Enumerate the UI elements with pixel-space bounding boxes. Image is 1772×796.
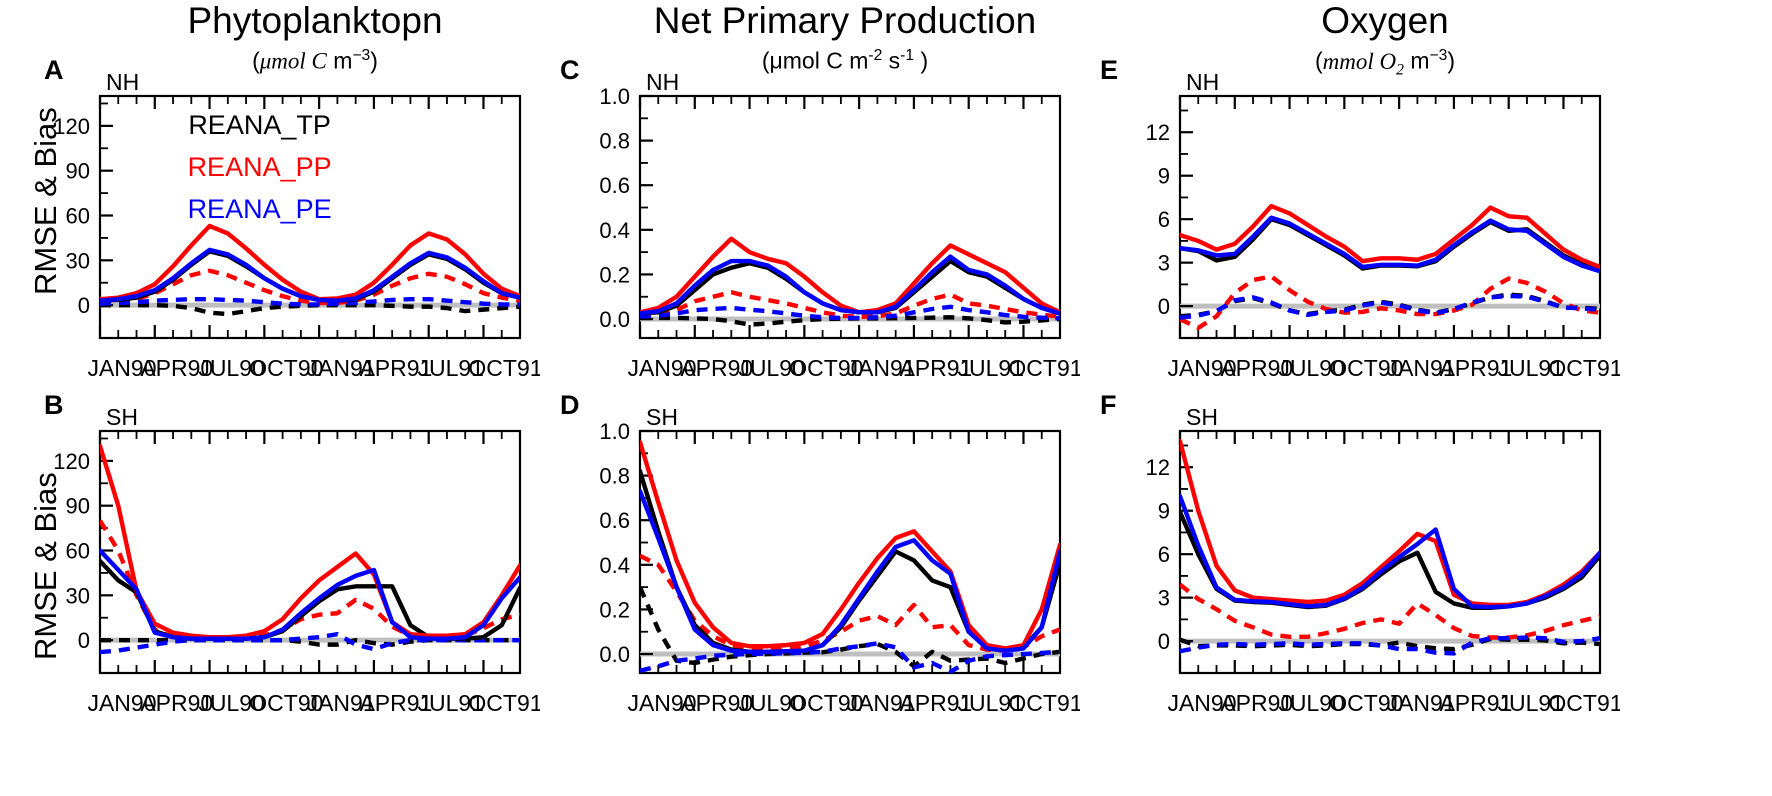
y-tick-label: 9 — [1158, 164, 1170, 189]
y-tick-label: 12 — [1146, 120, 1170, 145]
chart-panel-d: 0.00.20.40.60.81.0JAN90APR90JUL90OCT90JA… — [540, 405, 1080, 735]
y-tick-label: 0 — [1158, 629, 1170, 654]
y-tick-label: 30 — [66, 248, 90, 273]
y-tick-label: 0.0 — [599, 307, 630, 332]
column-title-phytoplankton: Phytoplanktopn — [70, 2, 560, 39]
y-tick-label: 3 — [1158, 251, 1170, 276]
y-tick-label: 0 — [78, 293, 90, 318]
y-tick-label: 0.6 — [599, 173, 630, 198]
y-tick-label: 120 — [53, 449, 90, 474]
series-group — [1180, 206, 1600, 328]
legend-entry-reana_tp: REANA_TP — [188, 110, 331, 140]
plot-panel-b: 0306090120JAN90APR90JUL90OCT90JAN91APR91… — [0, 405, 540, 735]
y-tick-label: 12 — [1146, 455, 1170, 480]
series-group — [640, 442, 1060, 672]
series-group — [100, 446, 520, 652]
y-tick-label: 3 — [1158, 586, 1170, 611]
figure-root: Phytoplanktopn (μmol C m−3) Net Primary … — [0, 0, 1772, 796]
series-group — [1180, 441, 1600, 653]
y-tick-label: 0.6 — [599, 508, 630, 533]
y-tick-label: 6 — [1158, 207, 1170, 232]
y-tick-label: 0.2 — [599, 597, 630, 622]
series-group — [640, 239, 1060, 325]
series-group — [100, 226, 520, 314]
plot-panel-a: 0306090120JAN90APR90JUL90OCT90JAN91APR91… — [0, 70, 540, 400]
x-tick-label: OCT91 — [1548, 690, 1620, 716]
chart-panel-a: 0306090120JAN90APR90JUL90OCT90JAN91APR91… — [0, 70, 540, 400]
hemisphere-label: NH — [1186, 70, 1219, 95]
x-tick-label: OCT91 — [1008, 355, 1080, 381]
plot-panel-f: 036912JAN90APR90JUL90OCT90JAN91APR91JUL9… — [1080, 405, 1620, 735]
y-tick-label: 0.4 — [599, 553, 630, 578]
y-tick-label: 60 — [66, 539, 90, 564]
column-title-npp: Net Primary Production — [600, 2, 1090, 39]
y-tick-label: 0 — [1158, 294, 1170, 319]
y-tick-label: 0 — [78, 628, 90, 653]
hemisphere-label: SH — [106, 405, 138, 430]
x-tick-label: OCT91 — [1008, 690, 1080, 716]
plot-panel-c: 0.00.20.40.60.81.0JAN90APR90JUL90OCT90JA… — [540, 70, 1080, 400]
y-tick-label: 90 — [66, 159, 90, 184]
y-tick-label: 9 — [1158, 499, 1170, 524]
y-tick-label: 0.2 — [599, 262, 630, 287]
chart-panel-e: 036912JAN90APR90JUL90OCT90JAN91APR91JUL9… — [1080, 70, 1620, 400]
x-tick-label: OCT91 — [468, 355, 540, 381]
y-tick-label: 30 — [66, 583, 90, 608]
y-tick-label: 1.0 — [599, 84, 630, 109]
legend-entry-reana_pp: REANA_PP — [188, 152, 332, 182]
y-tick-label: 6 — [1158, 542, 1170, 567]
hemisphere-label: NH — [646, 70, 679, 95]
x-tick-label: OCT91 — [468, 690, 540, 716]
chart-panel-c: 0.00.20.40.60.81.0JAN90APR90JUL90OCT90JA… — [540, 70, 1080, 400]
x-tick-label: OCT91 — [1548, 355, 1620, 381]
plot-panel-e: 036912JAN90APR90JUL90OCT90JAN91APR91JUL9… — [1080, 70, 1620, 400]
series-line-reana-pe-rmse — [1180, 496, 1600, 607]
y-tick-label: 1.0 — [599, 419, 630, 444]
y-tick-label: 90 — [66, 494, 90, 519]
chart-panel-f: 036912JAN90APR90JUL90OCT90JAN91APR91JUL9… — [1080, 405, 1620, 735]
chart-panel-b: 0306090120JAN90APR90JUL90OCT90JAN91APR91… — [0, 405, 540, 735]
y-tick-label: 0.8 — [599, 129, 630, 154]
legend-entry-reana_pe: REANA_PE — [188, 194, 332, 224]
hemisphere-label: SH — [646, 405, 678, 430]
y-tick-label: 120 — [53, 114, 90, 139]
hemisphere-label: SH — [1186, 405, 1218, 430]
hemisphere-label: NH — [106, 70, 139, 95]
series-line-reana-pp-bias — [100, 521, 520, 639]
column-title-oxygen: Oxygen — [1140, 2, 1630, 39]
y-tick-label: 0.8 — [599, 464, 630, 489]
y-tick-label: 60 — [66, 204, 90, 229]
series-line-reana-pp-rmse — [1180, 441, 1600, 605]
plot-panel-d: 0.00.20.40.60.81.0JAN90APR90JUL90OCT90JA… — [540, 405, 1080, 735]
y-tick-label: 0.4 — [599, 218, 630, 243]
y-tick-label: 0.0 — [599, 642, 630, 667]
plot-frame — [640, 96, 1060, 338]
